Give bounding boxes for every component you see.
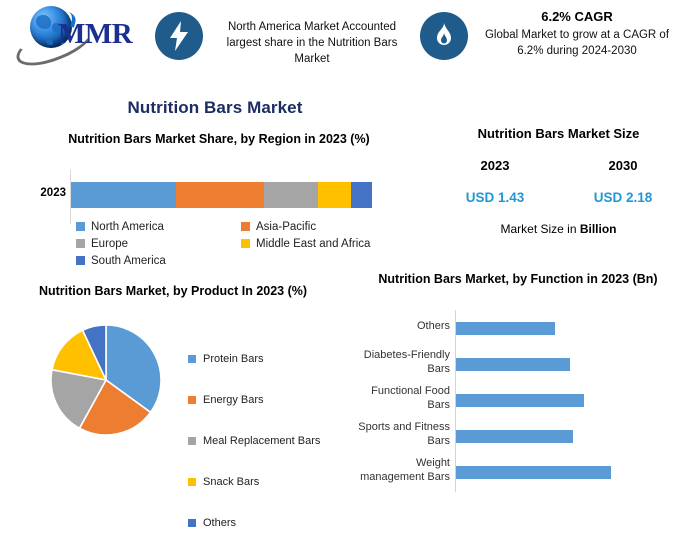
market-size-footer-unit: Billion <box>580 222 617 236</box>
market-size-footer: Market Size in Billion <box>438 222 679 236</box>
flame-icon <box>420 12 468 60</box>
product-share-chart: Nutrition Bars Market, by Product In 202… <box>8 282 360 495</box>
legend-item: North America <box>76 218 241 235</box>
region-segment <box>71 182 176 208</box>
market-size-year-2023: 2023 <box>450 158 540 173</box>
cagr-title: 6.2% CAGR <box>478 9 676 24</box>
function-category-label: Others <box>358 319 450 333</box>
market-size-title: Nutrition Bars Market Size <box>438 126 679 141</box>
function-bar <box>456 358 570 371</box>
legend-swatch <box>241 222 250 231</box>
page-title: Nutrition Bars Market <box>0 98 430 118</box>
legend-item: Protein Bars <box>188 338 363 379</box>
legend-label: Snack Bars <box>203 476 259 488</box>
function-category-label: Diabetes-Friendly Bars <box>358 348 450 376</box>
function-category-label: Functional Food Bars <box>358 384 450 412</box>
function-size-chart: Nutrition Bars Market, by Function in 20… <box>358 270 679 495</box>
legend-item: Europe <box>76 235 241 252</box>
legend-item: Snack Bars <box>188 461 363 502</box>
market-size-year-2030: 2030 <box>578 158 668 173</box>
legend-label: Meal Replacement Bars <box>203 435 320 447</box>
function-category-label: Weight management Bars <box>358 456 450 484</box>
legend-swatch <box>76 222 85 231</box>
market-size-footer-prefix: Market Size in <box>500 222 579 236</box>
function-category-label: Sports and Fitness Bars <box>358 420 450 448</box>
legend-swatch <box>188 396 196 404</box>
function-bar <box>456 394 584 407</box>
legend-item: South America <box>76 252 241 269</box>
legend-item: Energy Bars <box>188 379 363 420</box>
cagr-description: Global Market to grow at a CAGR of 6.2% … <box>478 27 676 59</box>
function-bar <box>456 322 555 335</box>
function-chart-row: Weight management Bars <box>358 454 679 490</box>
legend-swatch <box>76 256 85 265</box>
market-size-value-2030: USD 2.18 <box>578 190 668 205</box>
legend-item: Middle East and Africa <box>241 235 406 252</box>
header-banner: MMR North America Market Accounted large… <box>0 0 679 82</box>
legend-label: Middle East and Africa <box>256 238 370 250</box>
legend-item: Others <box>188 502 363 543</box>
legend-item: Meal Replacement Bars <box>188 420 363 461</box>
market-size-value-2023: USD 1.43 <box>450 190 540 205</box>
legend-label: Protein Bars <box>203 353 264 365</box>
legend-swatch <box>76 239 85 248</box>
region-chart-legend: North AmericaAsia-PacificEuropeMiddle Ea… <box>76 218 406 269</box>
region-segment <box>264 182 318 208</box>
function-chart-row: Sports and Fitness Bars <box>358 418 679 454</box>
legend-swatch <box>241 239 250 248</box>
legend-label: North America <box>91 221 164 233</box>
mmr-logo[interactable]: MMR <box>8 4 148 60</box>
region-segment <box>176 182 263 208</box>
legend-swatch <box>188 519 196 527</box>
function-chart-title: Nutrition Bars Market, by Function in 20… <box>368 270 668 288</box>
region-share-chart: Nutrition Bars Market Share, by Region i… <box>8 130 428 280</box>
legend-label: Energy Bars <box>203 394 264 406</box>
legend-swatch <box>188 437 196 445</box>
product-pie-graphic <box>50 324 162 436</box>
legend-label: Asia-Pacific <box>256 221 316 233</box>
legend-item: Asia-Pacific <box>241 218 406 235</box>
region-segment <box>351 182 372 208</box>
region-segment <box>318 182 351 208</box>
region-category-label: 2023 <box>18 187 66 199</box>
legend-label: Others <box>203 517 236 529</box>
function-chart-row: Diabetes-Friendly Bars <box>358 346 679 382</box>
market-size-panel: Nutrition Bars Market Size 2023 2030 USD… <box>438 126 679 266</box>
header-highlight-text: North America Market Accounted largest s… <box>212 19 412 67</box>
function-chart-row: Functional Food Bars <box>358 382 679 418</box>
region-chart-title: Nutrition Bars Market Share, by Region i… <box>34 130 404 148</box>
function-chart-rows: OthersDiabetes-Friendly BarsFunctional F… <box>358 310 679 492</box>
legend-swatch <box>188 355 196 363</box>
legend-label: Europe <box>91 238 128 250</box>
brand-name: MMR <box>58 18 132 51</box>
lightning-bolt-icon <box>155 12 203 60</box>
product-chart-legend: Protein BarsEnergy BarsMeal Replacement … <box>188 338 363 543</box>
function-bar <box>456 430 573 443</box>
function-bar <box>456 466 611 479</box>
function-chart-row: Others <box>358 310 679 346</box>
region-stacked-bar <box>71 182 372 208</box>
legend-label: South America <box>91 255 166 267</box>
product-chart-title: Nutrition Bars Market, by Product In 202… <box>8 282 338 300</box>
legend-swatch <box>188 478 196 486</box>
